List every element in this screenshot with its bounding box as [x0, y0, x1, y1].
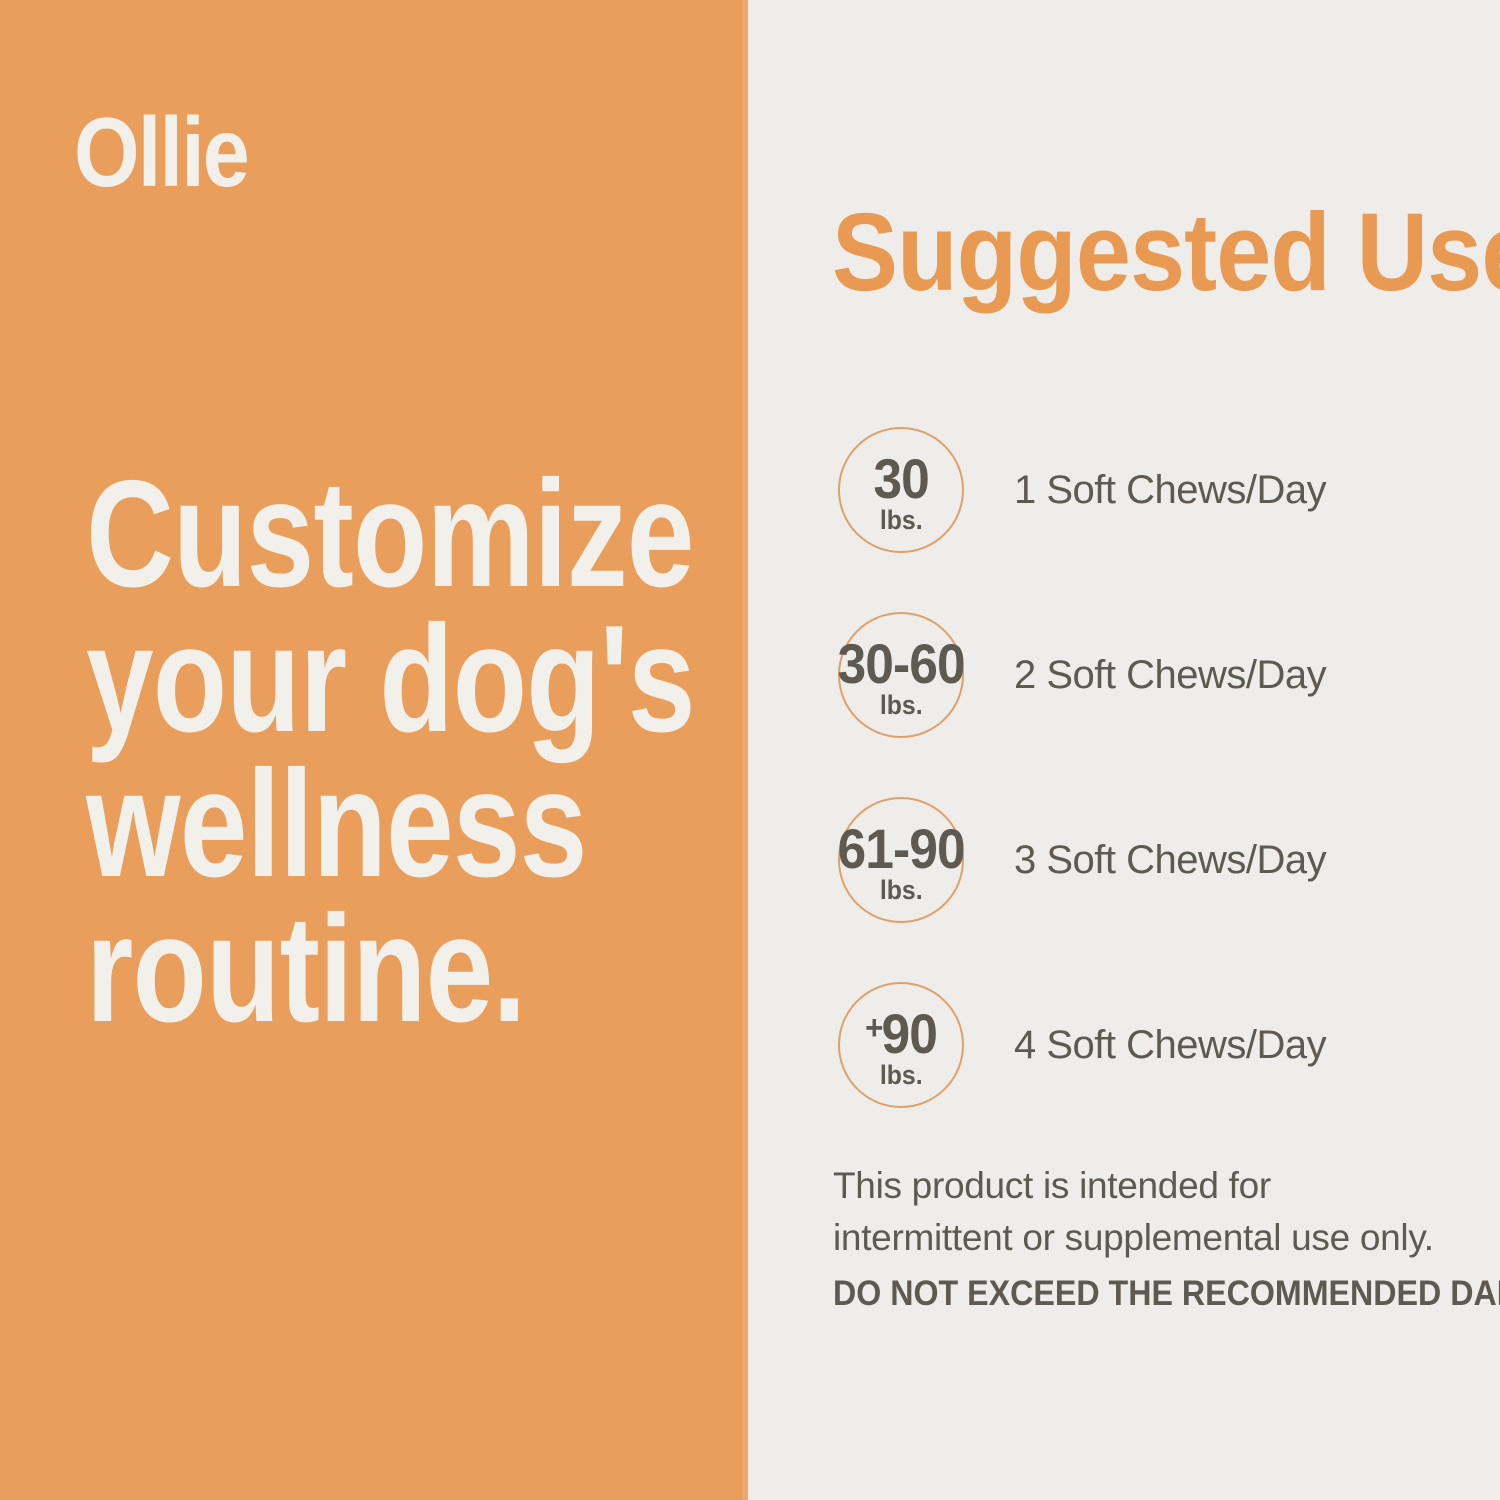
weight-unit: lbs.: [880, 692, 923, 719]
dosage-instruction: 2 Soft Chews/Day: [1014, 612, 1326, 738]
weight-badge: 61-90 lbs.: [838, 797, 964, 923]
dosage-row: +90 lbs. 4 Soft Chews/Day: [838, 982, 1478, 1114]
weight-value: 61-90: [837, 817, 964, 875]
weight-value: +90: [865, 1002, 937, 1060]
weight-value: 30: [873, 447, 928, 505]
weight-number: 90: [881, 1002, 936, 1065]
weight-number: 61-90: [837, 817, 964, 880]
suggested-use-infographic: Ollie Customize your dog's wellness rout…: [0, 0, 1500, 1500]
dosage-row: 30 lbs. 1 Soft Chews/Day: [838, 427, 1478, 559]
weight-number: 30-60: [837, 632, 964, 695]
weight-number: 30: [873, 447, 928, 510]
headline-line-1: Customize: [86, 462, 582, 607]
weight-unit: lbs.: [880, 507, 923, 534]
weight-unit: lbs.: [880, 877, 923, 904]
warning-text: DO NOT EXCEED THE RECOMMENDED DAILY AMOU…: [833, 1272, 1440, 1316]
disclaimer-line-2: intermittent or supplemental use only.: [833, 1212, 1473, 1264]
weight-value: 30-60: [837, 632, 964, 690]
dosage-instruction: 4 Soft Chews/Day: [1014, 982, 1326, 1108]
headline-line-4: routine.: [86, 897, 582, 1042]
weight-unit: lbs.: [880, 1062, 923, 1089]
headline-line-2: your dog's: [86, 607, 582, 752]
dosage-row: 61-90 lbs. 3 Soft Chews/Day: [838, 797, 1478, 929]
plus-sign: +: [865, 1009, 881, 1047]
weight-badge: +90 lbs.: [838, 982, 964, 1108]
dosage-row: 30-60 lbs. 2 Soft Chews/Day: [838, 612, 1478, 744]
dosage-instruction: 3 Soft Chews/Day: [1014, 797, 1326, 923]
brand-logo: Ollie: [74, 103, 248, 201]
page-title: Suggested Use: [832, 198, 1500, 308]
dosage-instruction: 1 Soft Chews/Day: [1014, 427, 1326, 553]
weight-badge: 30 lbs.: [838, 427, 964, 553]
headline: Customize your dog's wellness routine.: [86, 462, 706, 1042]
disclaimer-text: This product is intended for intermitten…: [833, 1160, 1473, 1264]
headline-line-3: wellness: [86, 752, 582, 897]
disclaimer-line-1: This product is intended for: [833, 1160, 1473, 1212]
weight-badge: 30-60 lbs.: [838, 612, 964, 738]
